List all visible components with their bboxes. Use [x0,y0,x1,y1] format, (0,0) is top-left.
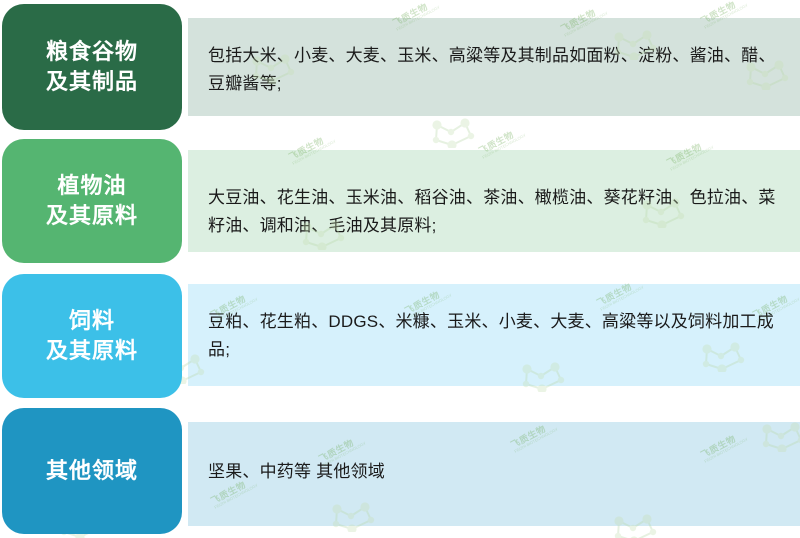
category-label-other: 其他领域 [46,456,138,486]
description-text-grain: 包括大米、小麦、大麦、玉米、高粱等及其制品如面粉、淀粉、酱油、醋、豆瓣酱等; [188,42,800,97]
description-panel-other: 坚果、中药等 其他领域 [188,422,800,526]
category-row-vegetable-oil: 大豆油、花生油、玉米油、稻谷油、茶油、橄榄油、葵花籽油、色拉油、菜籽油、调和油、… [0,134,800,268]
description-text-feed: 豆粕、花生粕、DDGS、米糠、玉米、小麦、大麦、高粱等以及饲料加工成品; [188,308,800,363]
category-box-vegetable-oil[interactable]: 植物油 及其原料 [2,139,182,263]
category-label-grain: 粮食谷物 及其制品 [46,37,138,98]
infographic-root: 包括大米、小麦、大麦、玉米、高粱等及其制品如面粉、淀粉、酱油、醋、豆瓣酱等; 粮… [0,0,800,538]
category-label-vegetable-oil: 植物油 及其原料 [46,171,138,232]
description-panel-feed: 豆粕、花生粕、DDGS、米糠、玉米、小麦、大麦、高粱等以及饲料加工成品; [188,284,800,386]
description-panel-grain: 包括大米、小麦、大麦、玉米、高粱等及其制品如面粉、淀粉、酱油、醋、豆瓣酱等; [188,18,800,116]
category-box-other[interactable]: 其他领域 [2,408,182,534]
category-row-feed: 豆粕、花生粕、DDGS、米糠、玉米、小麦、大麦、高粱等以及饲料加工成品; 饲料 … [0,268,800,402]
category-box-grain[interactable]: 粮食谷物 及其制品 [2,4,182,130]
description-panel-vegetable-oil: 大豆油、花生油、玉米油、稻谷油、茶油、橄榄油、葵花籽油、色拉油、菜籽油、调和油、… [188,150,800,252]
description-text-other: 坚果、中药等 其他领域 [188,458,399,486]
category-row-other: 坚果、中药等 其他领域 其他领域 [0,402,800,538]
category-label-feed: 饲料 及其原料 [46,306,138,367]
description-text-vegetable-oil: 大豆油、花生油、玉米油、稻谷油、茶油、橄榄油、葵花籽油、色拉油、菜籽油、调和油、… [188,184,800,239]
category-row-grain: 包括大米、小麦、大麦、玉米、高粱等及其制品如面粉、淀粉、酱油、醋、豆瓣酱等; 粮… [0,0,800,134]
category-box-feed[interactable]: 饲料 及其原料 [2,274,182,398]
